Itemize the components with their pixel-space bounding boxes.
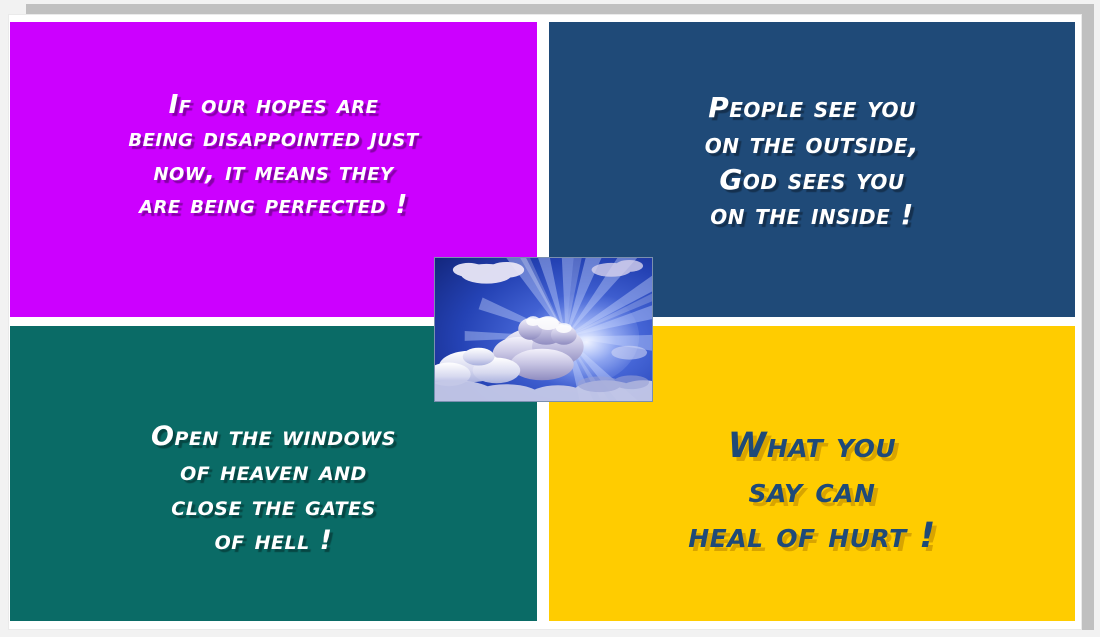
quote-line: are being perfected ! — [128, 189, 418, 222]
quote-text-words: What you say can heal of hurt ! — [674, 424, 950, 558]
quote-line: being disappointed just — [128, 122, 418, 155]
quote-text-hopes: If our hopes are being disappointed just… — [114, 89, 432, 222]
quote-line: of heaven and — [151, 455, 396, 490]
quote-line: say can — [688, 469, 936, 514]
quote-text-windows: Open the windows of heaven and close the… — [137, 420, 410, 558]
quote-line: What you — [688, 424, 936, 469]
quote-line: of hell ! — [151, 524, 396, 559]
quote-line: God sees you — [705, 162, 919, 198]
quote-line: close the gates — [151, 490, 396, 525]
slide-canvas: If our hopes are being disappointed just… — [0, 0, 1100, 637]
quote-line: on the outside, — [705, 126, 919, 162]
quote-text-people: People see you on the outside, God sees … — [691, 90, 933, 233]
sky-sunrays-photo — [434, 257, 653, 402]
quote-line: heal of hurt ! — [688, 514, 936, 559]
quote-line: People see you — [705, 90, 919, 126]
quote-line: Open the windows — [151, 420, 396, 455]
quote-line: If our hopes are — [128, 89, 418, 122]
sky-photo-graphic — [435, 258, 652, 401]
quote-line: on the inside ! — [705, 197, 919, 233]
quote-line: now, it means they — [128, 156, 418, 189]
